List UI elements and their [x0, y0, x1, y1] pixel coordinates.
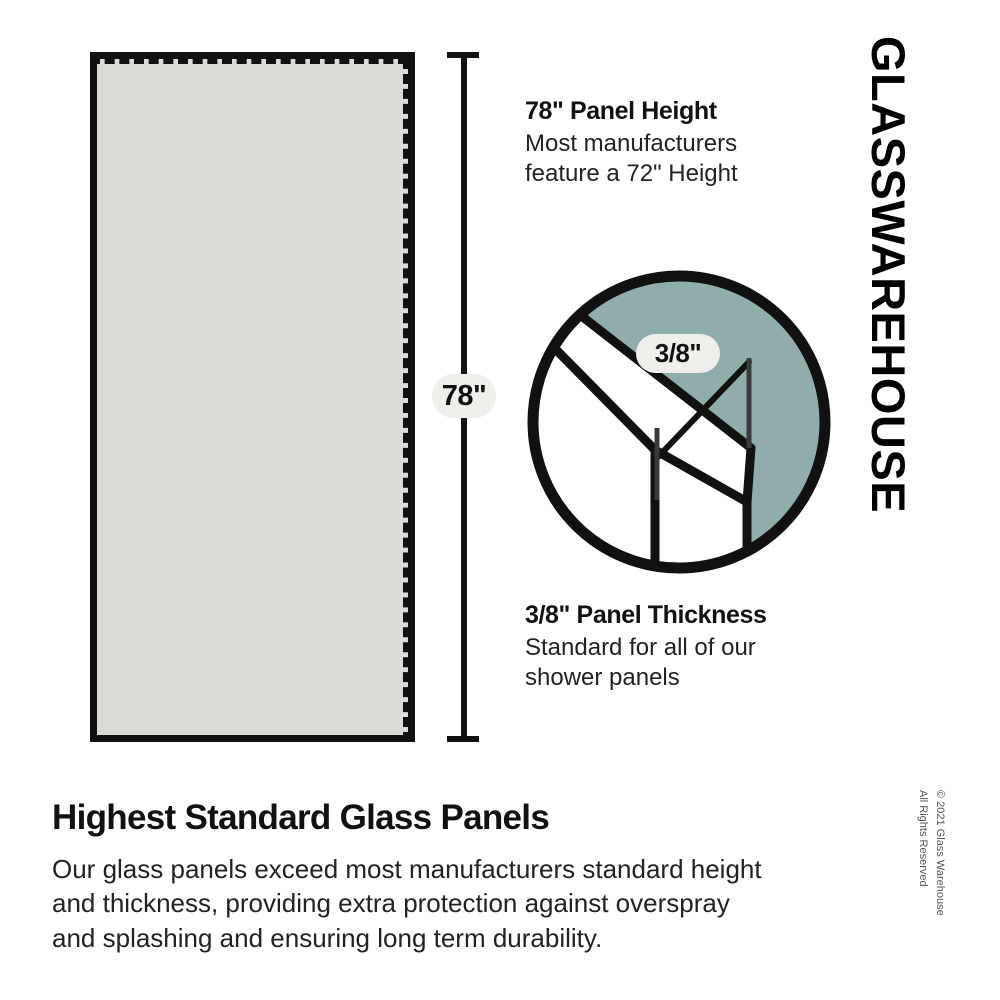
panel-thickness-detail-illustration [527, 270, 831, 574]
copyright-line-2: All Rights Reserved [915, 790, 932, 970]
panel-thickness-callout: 3/8" Panel Thickness Standard for all of… [525, 600, 855, 693]
dimension-tick-bottom [447, 736, 479, 742]
panel-height-body-line-1: Most manufacturers [525, 129, 855, 159]
panel-thickness-heading: 3/8" Panel Thickness [525, 600, 855, 631]
brand-wordmark: GLASSWAREHOUSE [860, 36, 916, 596]
panel-height-body-line-2: feature a 72" Height [525, 159, 855, 189]
panel-thickness-badge: 3/8" [636, 334, 720, 373]
panel-height-heading: 78" Panel Height [525, 96, 855, 127]
footer-paragraph-line-3: and splashing and ensuring long term dur… [52, 921, 872, 955]
copyright-line-1: © 2021 Glass Warehouse [932, 790, 949, 970]
copyright-notice: © 2021 Glass Warehouse All Rights Reserv… [915, 790, 948, 970]
panel-height-badge: 78" [432, 374, 496, 418]
footer-copy-block: Highest Standard Glass Panels Our glass … [52, 798, 872, 955]
panel-thickness-body-line-1: Standard for all of our [525, 633, 855, 663]
panel-thickness-body-line-2: shower panels [525, 663, 855, 693]
footer-title: Highest Standard Glass Panels [52, 798, 872, 838]
panel-height-callout: 78" Panel Height Most manufacturers feat… [525, 96, 855, 189]
panel-fill-area [97, 59, 408, 735]
footer-paragraph-line-1: Our glass panels exceed most manufacture… [52, 852, 872, 886]
glass-panel-diagram [90, 52, 415, 742]
footer-paragraph-line-2: and thickness, providing extra protectio… [52, 886, 872, 920]
infographic-canvas: 78" 78" Panel Height Most manufacturers … [0, 0, 1000, 1000]
